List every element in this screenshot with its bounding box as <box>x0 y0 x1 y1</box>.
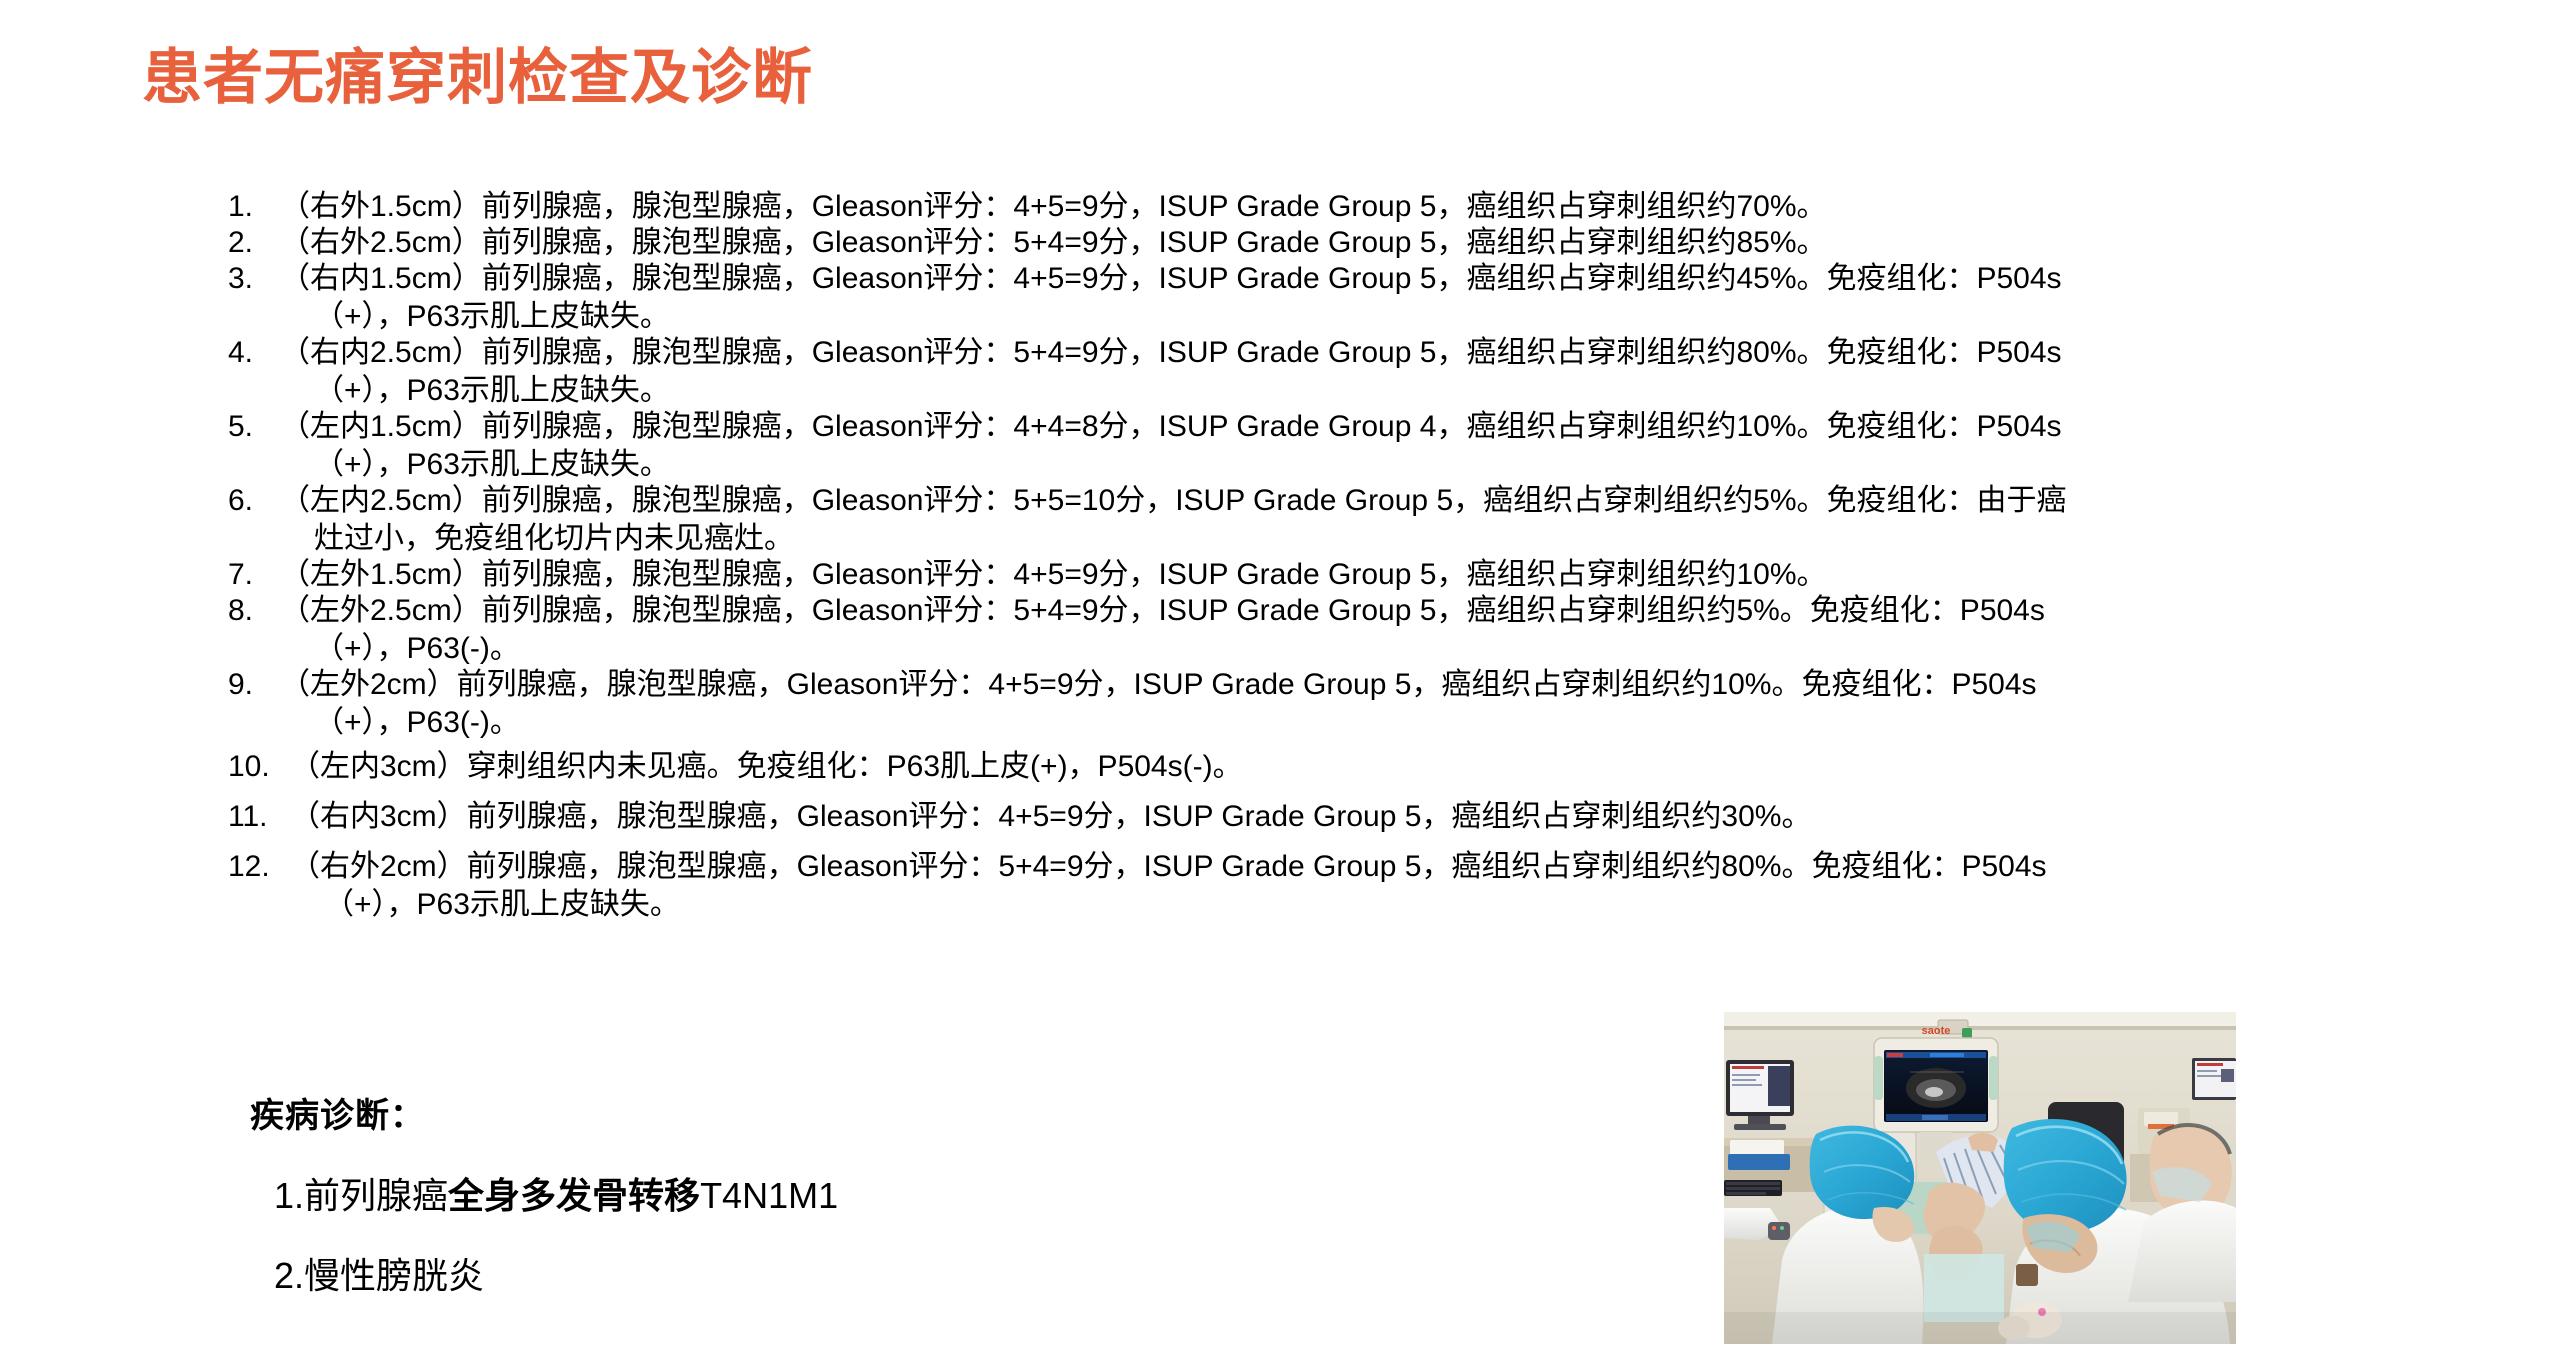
finding-item: 6.（左内2.5cm）前列腺癌，腺泡型腺癌，Gleason评分：5+5=10分，… <box>228 486 2378 554</box>
finding-number: 10. <box>228 752 290 782</box>
finding-number: 7. <box>228 560 280 590</box>
finding-item: 1.（右外1.5cm）前列腺癌，腺泡型腺癌，Gleason评分：4+5=9分，I… <box>228 192 2378 222</box>
finding-text: （左内3cm）穿刺组织内未见癌。免疫组化：P63肌上皮(+)，P504s(-)。 <box>290 750 1243 783</box>
finding-text: （右外2.5cm）前列腺癌，腺泡型腺癌，Gleason评分：5+4=9分，ISU… <box>280 226 1827 259</box>
finding-number: 1. <box>228 192 280 222</box>
finding-text: （右内2.5cm）前列腺癌，腺泡型腺癌，Gleason评分：5+4=9分，ISU… <box>280 336 2062 369</box>
finding-continuation: （+），P63示肌上皮缺失。 <box>280 376 2378 406</box>
finding-text: （左内2.5cm）前列腺癌，腺泡型腺癌，Gleason评分：5+5=10分，IS… <box>280 484 2067 517</box>
slide-canvas: 患者无痛穿刺检查及诊断 1.（右外1.5cm）前列腺癌，腺泡型腺癌，Gleaso… <box>0 0 2560 1347</box>
finding-item: 2.（右外2.5cm）前列腺癌，腺泡型腺癌，Gleason评分：5+4=9分，I… <box>228 228 2378 258</box>
finding-continuation: （+），P63示肌上皮缺失。 <box>290 890 2378 920</box>
diagnosis-item-suffix: T4N1M1 <box>700 1175 838 1216</box>
finding-continuation: （+），P63示肌上皮缺失。 <box>280 302 2378 332</box>
procedure-photo-illustration: saote <box>1724 1012 2236 1344</box>
finding-item: 3.（右内1.5cm）前列腺癌，腺泡型腺癌，Gleason评分：4+5=9分，I… <box>228 264 2378 332</box>
finding-number: 2. <box>228 228 280 258</box>
finding-number: 11. <box>228 802 290 832</box>
finding-item: 7.（左外1.5cm）前列腺癌，腺泡型腺癌，Gleason评分：4+5=9分，I… <box>228 560 2378 590</box>
finding-item: 9.（左外2cm）前列腺癌，腺泡型腺癌，Gleason评分：4+5=9分，ISU… <box>228 670 2378 738</box>
finding-number: 3. <box>228 264 280 294</box>
finding-text: （右外2cm）前列腺癌，腺泡型腺癌，Gleason评分：5+4=9分，ISUP … <box>290 850 2047 883</box>
finding-item: 4.（右内2.5cm）前列腺癌，腺泡型腺癌，Gleason评分：5+4=9分，I… <box>228 338 2378 406</box>
finding-item: 8.（左外2.5cm）前列腺癌，腺泡型腺癌，Gleason评分：5+4=9分，I… <box>228 596 2378 664</box>
diagnosis-section: 疾病诊断： 1.前列腺癌全身多发骨转移T4N1M1 2.慢性膀胱炎 <box>250 1088 1650 1327</box>
diagnosis-item-prefix: 慢性膀胱炎 <box>304 1255 484 1296</box>
finding-continuation: 灶过小，免疫组化切片内未见癌灶。 <box>280 524 2378 554</box>
finding-number: 12. <box>228 852 290 882</box>
finding-text: （右内1.5cm）前列腺癌，腺泡型腺癌，Gleason评分：4+5=9分，ISU… <box>280 262 2062 295</box>
procedure-photo: saote <box>1724 1012 2236 1344</box>
finding-text: （右外1.5cm）前列腺癌，腺泡型腺癌，Gleason评分：4+5=9分，ISU… <box>280 190 1827 223</box>
diagnosis-item-number: 2. <box>274 1255 304 1296</box>
finding-number: 5. <box>228 412 280 442</box>
finding-text: （左外2.5cm）前列腺癌，腺泡型腺癌，Gleason评分：5+4=9分，ISU… <box>280 594 2045 627</box>
finding-continuation: （+），P63(-)。 <box>280 708 2378 738</box>
finding-text: （左外1.5cm）前列腺癌，腺泡型腺癌，Gleason评分：4+5=9分，ISU… <box>280 558 1827 591</box>
finding-continuation: （+），P63示肌上皮缺失。 <box>280 450 2378 480</box>
diagnosis-item: 2.慢性膀胱炎 <box>250 1247 1650 1299</box>
finding-number: 4. <box>228 338 280 368</box>
diagnosis-item-number: 1. <box>274 1175 304 1216</box>
diagnosis-item: 1.前列腺癌全身多发骨转移T4N1M1 <box>250 1167 1650 1219</box>
page-title: 患者无痛穿刺检查及诊断 <box>142 40 813 115</box>
finding-item: 5.（左内1.5cm）前列腺癌，腺泡型腺癌，Gleason评分：4+4=8分，I… <box>228 412 2378 480</box>
diagnosis-item-emphasis: 全身多发骨转移 <box>448 1175 700 1216</box>
finding-number: 6. <box>228 486 280 516</box>
finding-number: 8. <box>228 596 280 626</box>
diagnosis-item-prefix: 前列腺癌 <box>304 1175 448 1216</box>
finding-continuation: （+），P63(-)。 <box>280 634 2378 664</box>
pathology-findings-list: 1.（右外1.5cm）前列腺癌，腺泡型腺癌，Gleason评分：4+5=9分，I… <box>228 192 2378 926</box>
diagnosis-heading: 疾病诊断： <box>250 1088 1650 1137</box>
finding-item: 10.（左内3cm）穿刺组织内未见癌。免疫组化：P63肌上皮(+)，P504s(… <box>228 752 2378 782</box>
finding-text: （右内3cm）前列腺癌，腺泡型腺癌，Gleason评分：4+5=9分，ISUP … <box>290 800 1811 833</box>
svg-text:saote: saote <box>1922 1025 1951 1037</box>
finding-number: 9. <box>228 670 280 700</box>
finding-item: 12.（右外2cm）前列腺癌，腺泡型腺癌，Gleason评分：5+4=9分，IS… <box>228 852 2378 920</box>
finding-item: 11.（右内3cm）前列腺癌，腺泡型腺癌，Gleason评分：4+5=9分，IS… <box>228 802 2378 832</box>
finding-text: （左外2cm）前列腺癌，腺泡型腺癌，Gleason评分：4+5=9分，ISUP … <box>280 668 2037 701</box>
finding-text: （左内1.5cm）前列腺癌，腺泡型腺癌，Gleason评分：4+4=8分，ISU… <box>280 410 2062 443</box>
